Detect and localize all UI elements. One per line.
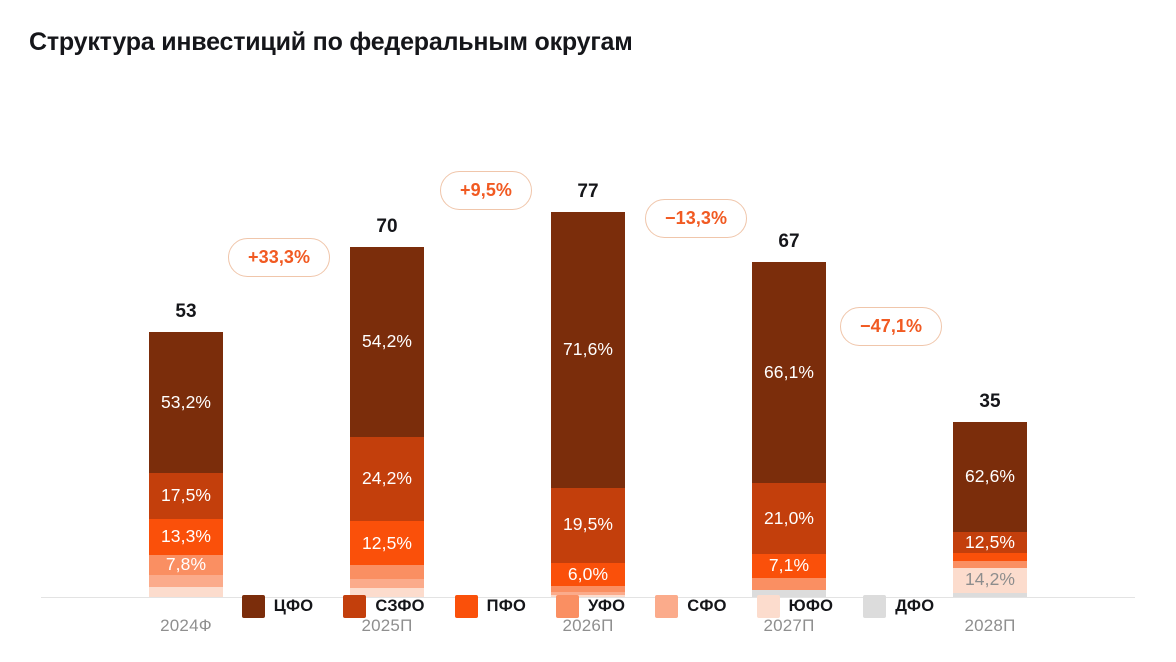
legend-item-sfo[interactable]: СФО [655,595,726,618]
bar-segment-szfo[interactable]: 12,5% [953,532,1027,554]
bar-stack: 7,8%13,3%17,5%53,2% [149,332,223,597]
bar-segment-cfo[interactable]: 62,6% [953,422,1027,532]
bar-segment-szfo[interactable]: 24,2% [350,437,424,522]
legend-label: ЦФО [274,597,314,616]
bar-segment-szfo[interactable]: 17,5% [149,473,223,519]
bar-stack: 6,0%19,5%71,6% [551,212,625,597]
bar-segment-cfo[interactable]: 66,1% [752,262,826,483]
segment-value-label: 66,1% [764,364,814,382]
bar-column[interactable]: 12,5%24,2%54,2% [350,247,424,597]
segment-value-label: 12,5% [362,535,412,553]
growth-badge-0[interactable]: +33,3% [228,238,330,277]
segment-value-label: 17,5% [161,487,211,505]
bar-segment-ufo[interactable] [953,561,1027,568]
chart-legend: ЦФОСЗФОПФОУФОСФОЮФОДФО [0,595,1176,618]
bar-segment-szfo[interactable]: 21,0% [752,483,826,553]
bar-stack: 7,1%21,0%66,1% [752,262,826,597]
legend-swatch-icon [343,595,366,618]
x-axis-label-2: 2026П [528,616,648,636]
chart-plot-area: 7,8%13,3%17,5%53,2%5312,5%24,2%54,2%706,… [0,70,1176,530]
bar-total-label: 77 [551,181,625,203]
legend-swatch-icon [863,595,886,618]
bar-segment-yufo[interactable]: 14,2% [953,568,1027,593]
legend-item-szfo[interactable]: СЗФО [343,595,424,618]
legend-item-ufo[interactable]: УФО [556,595,625,618]
bar-segment-sfo[interactable] [350,579,424,588]
segment-value-label: 24,2% [362,470,412,488]
bar-column[interactable]: 6,0%19,5%71,6% [551,212,625,597]
x-axis-label-1: 2025П [327,616,447,636]
bar-total-label: 35 [953,391,1027,413]
legend-swatch-icon [757,595,780,618]
segment-value-label: 12,5% [965,534,1015,552]
legend-label: УФО [588,597,625,616]
bar-segment-pfo[interactable] [953,553,1027,560]
segment-value-label: 53,2% [161,394,211,412]
segment-value-label: 14,2% [965,571,1015,589]
bar-column[interactable]: 7,1%21,0%66,1% [752,262,826,597]
segment-value-label: 13,3% [161,528,211,546]
bar-segment-ufo[interactable]: 7,8% [149,555,223,576]
legend-swatch-icon [455,595,478,618]
segment-value-label: 19,5% [563,516,613,534]
bar-column[interactable]: 7,8%13,3%17,5%53,2% [149,332,223,597]
bar-segment-szfo[interactable]: 19,5% [551,488,625,563]
legend-swatch-icon [556,595,579,618]
bar-total-label: 70 [350,216,424,238]
legend-item-yufo[interactable]: ЮФО [757,595,834,618]
bar-stack: 14,2%12,5%62,6% [953,422,1027,597]
bar-column[interactable]: 14,2%12,5%62,6% [953,422,1027,597]
segment-value-label: 71,6% [563,341,613,359]
growth-badge-1[interactable]: +9,5% [440,171,532,210]
legend-label: СФО [687,597,726,616]
legend-item-cfo[interactable]: ЦФО [242,595,314,618]
bar-segment-sfo[interactable] [149,575,223,587]
bar-segment-cfo[interactable]: 54,2% [350,247,424,437]
legend-swatch-icon [242,595,265,618]
bar-segment-cfo[interactable]: 53,2% [149,332,223,473]
legend-item-dfo[interactable]: ДФО [863,595,934,618]
x-axis-label-0: 2024Ф [126,616,246,636]
legend-label: ПФО [487,597,526,616]
bar-segment-cfo[interactable]: 71,6% [551,212,625,488]
bar-stack: 12,5%24,2%54,2% [350,247,424,597]
bar-segment-pfo[interactable]: 7,1% [752,554,826,578]
bar-total-label: 53 [149,301,223,323]
growth-badge-3[interactable]: −47,1% [840,307,942,346]
x-axis-label-4: 2028П [930,616,1050,636]
legend-swatch-icon [655,595,678,618]
bar-segment-ufo[interactable] [350,565,424,579]
bar-segment-ufo[interactable] [551,586,625,592]
segment-value-label: 6,0% [568,566,608,584]
segment-value-label: 7,1% [769,557,809,575]
bar-segment-pfo[interactable]: 13,3% [149,519,223,554]
legend-item-pfo[interactable]: ПФО [455,595,526,618]
page-title: Структура инвестиций по федеральным окру… [29,28,633,57]
bar-segment-pfo[interactable]: 6,0% [551,563,625,586]
bar-segment-ufo[interactable] [752,578,826,590]
segment-value-label: 54,2% [362,333,412,351]
legend-label: ЮФО [789,597,834,616]
legend-label: ДФО [895,597,934,616]
segment-value-label: 62,6% [965,468,1015,486]
legend-label: СЗФО [375,597,424,616]
segment-value-label: 21,0% [764,510,814,528]
segment-value-label: 7,8% [166,556,206,574]
x-axis-label-3: 2027П [729,616,849,636]
bar-segment-pfo[interactable]: 12,5% [350,521,424,565]
growth-badge-2[interactable]: −13,3% [645,199,747,238]
bar-total-label: 67 [752,231,826,253]
